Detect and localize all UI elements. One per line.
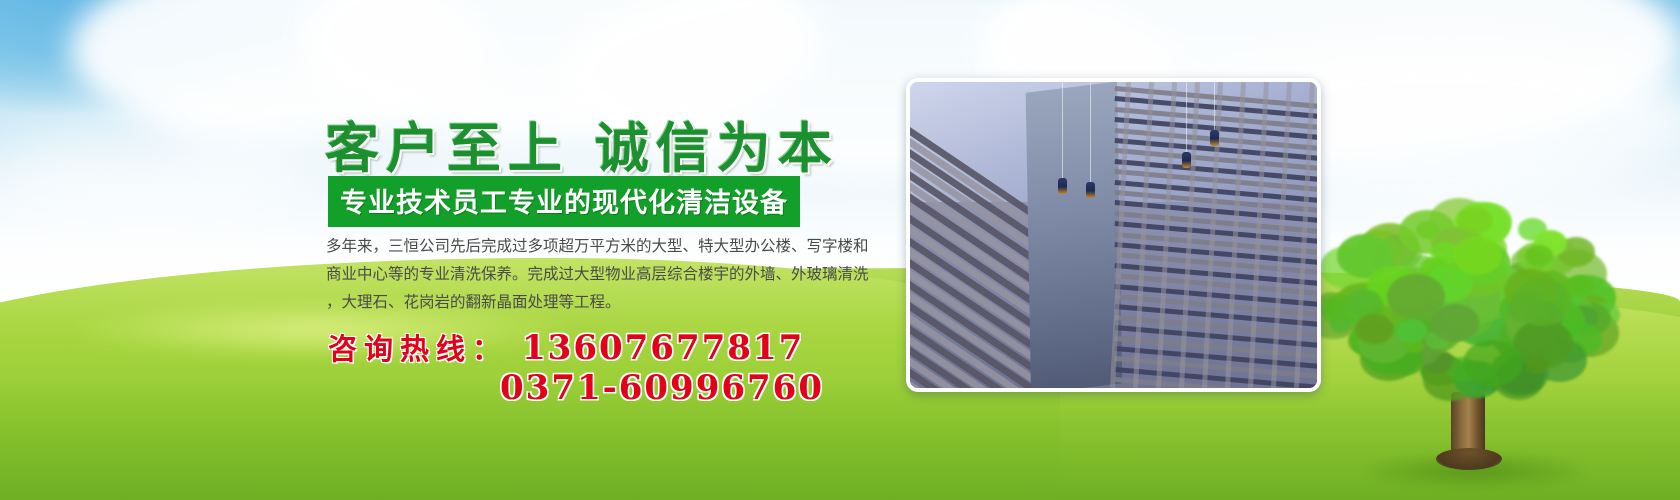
building-photo (910, 82, 1317, 388)
description-line: ，大理石、花岗岩的翻新晶面处理等工程。 (326, 288, 886, 316)
tree-canopy-cluster (1330, 318, 1350, 334)
subtitle-bar-label: 专业技术员工专业的现代化清洁设备 (340, 188, 788, 219)
tree-illustration (1318, 196, 1618, 468)
building-window-row (1115, 367, 1317, 388)
description-line: 多年来，三恒公司先后完成过多项超万平方米的大型、特大型办公楼、写字楼和 (326, 232, 886, 260)
window-cleaner-worker (1210, 130, 1219, 146)
building-glass-spine (1026, 82, 1123, 388)
worker-rope (1090, 82, 1091, 182)
building-photo-card (906, 78, 1321, 392)
tree-root (1436, 448, 1502, 470)
tree-canopy-cluster (1512, 279, 1572, 326)
worker-rope (1214, 82, 1215, 130)
hotline-secondary-row: 0371-60996760 (500, 368, 824, 408)
window-cleaner-worker (1058, 178, 1067, 194)
hotline-secondary-number[interactable]: 0371-60996760 (500, 368, 824, 408)
description-line: 商业中心等的专业清洗保养。完成过大型物业高层综合楼宇的外墙、外玻璃清洗 (326, 260, 886, 288)
tree-canopy-cluster (1355, 314, 1394, 344)
promo-banner: 客户至上 诚信为本 专业技术员工专业的现代化清洁设备 多年来，三恒公司先后完成过… (0, 0, 1680, 500)
subtitle-bar: 专业技术员工专业的现代化清洁设备 (328, 176, 800, 227)
tree-canopy-cluster (1457, 207, 1492, 235)
description-text: 多年来，三恒公司先后完成过多项超万平方米的大型、特大型办公楼、写字楼和 商业中心… (326, 232, 886, 316)
hotline-primary-number[interactable]: 13607677817 (522, 328, 804, 368)
hotline-label: 咨询热线： (328, 332, 508, 366)
tree-canopy-cluster (1463, 340, 1523, 386)
window-cleaner-worker (1086, 182, 1095, 198)
hotline-primary-row: 咨询热线：13607677817 (328, 326, 804, 368)
worker-rope (1186, 82, 1187, 152)
tree-canopy-cluster (1566, 275, 1593, 296)
tree-canopy-cluster (1397, 319, 1427, 342)
page-title: 客户至上 诚信为本 (325, 104, 839, 183)
tree-canopy-cluster (1453, 236, 1502, 274)
worker-rope (1062, 82, 1063, 178)
window-cleaner-worker (1182, 152, 1191, 168)
